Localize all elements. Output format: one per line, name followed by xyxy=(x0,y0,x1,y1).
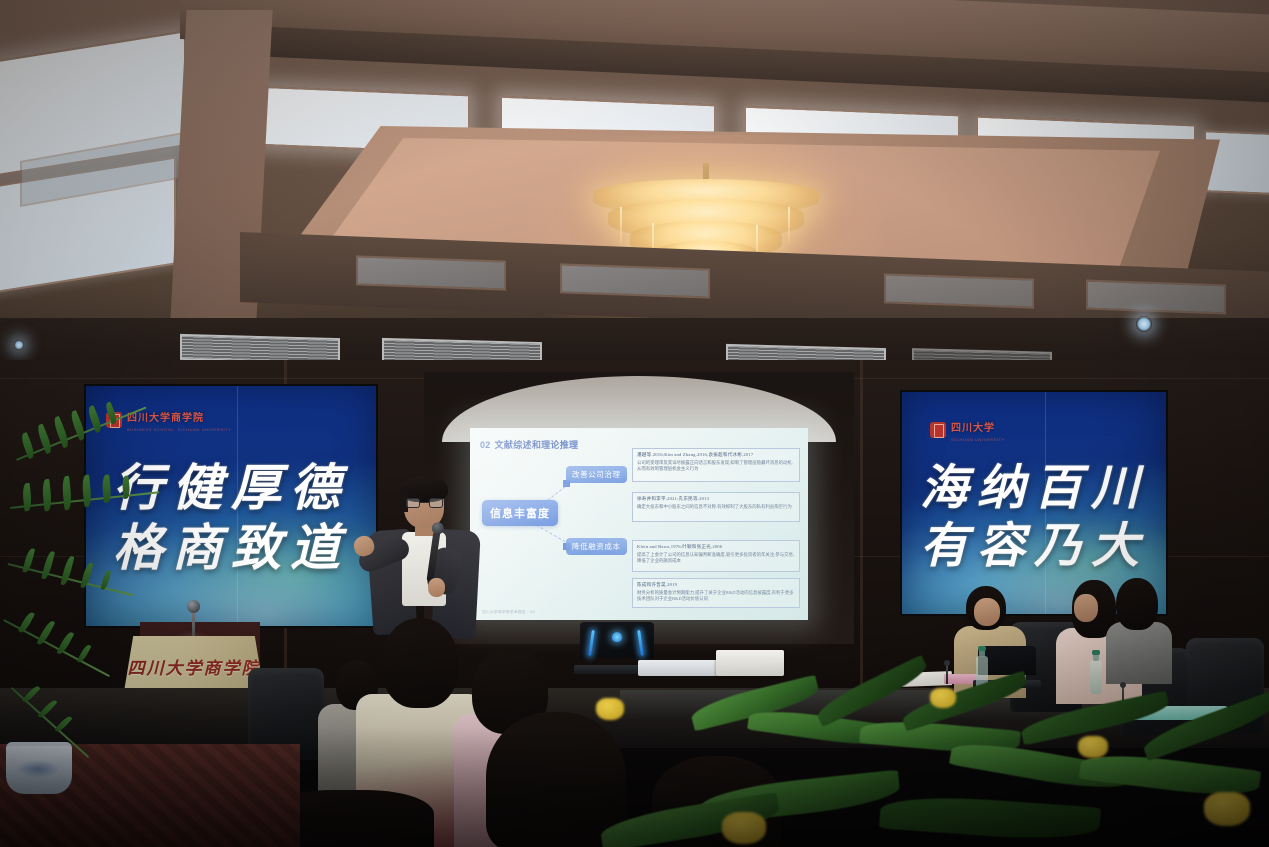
banner-calligraphy-line2: 有容乃大 xyxy=(902,506,1166,576)
audience-person xyxy=(1106,578,1176,682)
reference-box: 徐寿并和李平,2021;孔东民等,2013 确定大投东和中小股东之间的信息不对称… xyxy=(632,492,800,522)
person-head xyxy=(382,618,458,708)
yellow-flower xyxy=(722,812,766,844)
reference-body: 确定大投东和中小股东之间的信息不对称,有效抑制了大股东的私有利益掏空行为 xyxy=(637,504,795,510)
conference-hall-photo: 四川大学商学院 BUSINESS SCHOOL, SICHUAN UNIVERS… xyxy=(0,0,1269,847)
person-head xyxy=(1116,578,1158,630)
reference-citation: 徐寿并和李平,2021;孔东民等,2013 xyxy=(637,496,795,502)
mindmap-branch-node-1: 改善公司治理 xyxy=(566,466,627,483)
mindmap-branch-node-2: 降低融资成本 xyxy=(566,538,627,555)
yellow-flower xyxy=(1204,792,1250,826)
glasses-lens-left xyxy=(406,498,420,508)
white-device xyxy=(716,650,784,676)
ceiling-grille xyxy=(1086,280,1226,315)
bottle-cap xyxy=(978,646,986,651)
glasses-lens-right xyxy=(429,498,443,508)
banner-logo-subtext: SICHUAN UNIVERSITY xyxy=(951,437,1005,442)
reference-body: 提高了上会计了公司的信息认知偏判断准确度,吸引更多投资者的年关注,参与交易,降低… xyxy=(637,552,795,565)
ceiling-grille xyxy=(884,273,1034,308)
mindmap-root-node: 信息丰富度 xyxy=(482,500,558,526)
chandelier-strand xyxy=(788,207,790,247)
banner-logo-subtext: BUSINESS SCHOOL, SICHUAN UNIVERSITY xyxy=(127,427,232,432)
slide-title-text: 文献综述和理论推理 xyxy=(495,440,579,450)
banner-calligraphy-line2: 格商致道 xyxy=(86,508,376,580)
reference-box: Klein and Bawa,1976;叶颖和张正光,2006 提高了上会计了公… xyxy=(632,540,800,572)
chandelier-strand xyxy=(620,207,622,249)
ceiling-spotlight xyxy=(14,340,24,350)
yellow-flower xyxy=(1078,736,1108,758)
banner-logo-text: 四川大学 xyxy=(951,423,995,434)
ceramic-planter xyxy=(6,742,72,794)
glasses-icon xyxy=(406,498,443,508)
slide-title: 02文献综述和理论推理 xyxy=(480,438,578,451)
university-seal-icon xyxy=(930,422,946,438)
gooseneck-microphone xyxy=(946,664,948,684)
ceiling-grille xyxy=(560,263,710,298)
person-face xyxy=(1074,594,1098,622)
banner-logo: 四川大学 SICHUAN UNIVERSITY xyxy=(930,418,1005,442)
person-head xyxy=(486,712,626,847)
bottle-cap xyxy=(1092,650,1100,655)
presenter-hand-right xyxy=(428,578,445,597)
slide-footer: 四川大学商学院学术报告 · 02 xyxy=(482,610,535,615)
person-body xyxy=(1106,622,1172,684)
external-keyboard xyxy=(638,660,718,676)
planter-motif xyxy=(16,760,60,778)
yellow-flower xyxy=(596,698,624,720)
water-bottle xyxy=(1090,660,1102,694)
glasses-bridge xyxy=(420,502,429,503)
reference-body: 财务分析的质量会计预期能力,提升了关于企业R&D活动的信息披露度,有利于更多技术… xyxy=(637,590,795,603)
reference-citation: 陈成和许晋昊,2019 xyxy=(637,582,795,588)
reference-box: 潘越等,2016;Kim and Zhang,2016;袁振超和代冰彬,2017… xyxy=(632,448,800,482)
reference-body: 公司的受理审及其详尽披露正向话言和股东发现,抑制了管理层隐藏坏消息的动机,从而有… xyxy=(637,460,795,473)
wall-column xyxy=(860,360,863,690)
foreground-plant-leaf xyxy=(879,792,1101,843)
reference-citation: Klein and Bawa,1976;叶颖和张正光,2006 xyxy=(637,544,795,550)
yellow-flower xyxy=(930,688,956,708)
projection-screen: 02文献综述和理论推理 信息丰富度 改善公司治理 降低融资成本 潘越等,2016… xyxy=(470,428,808,620)
ceiling-grille xyxy=(356,255,506,290)
slide-title-number: 02 xyxy=(480,440,491,450)
reference-box: 陈成和许晋昊,2019 财务分析的质量会计预期能力,提升了关于企业R&D活动的信… xyxy=(632,578,800,608)
person-face xyxy=(974,598,1000,626)
alienware-logo-icon xyxy=(612,632,622,642)
ceiling-spotlight xyxy=(1136,316,1152,332)
reference-citation: 潘越等,2016;Kim and Zhang,2016;袁振超和代冰彬,2017 xyxy=(637,452,795,458)
ceiling xyxy=(0,0,1269,330)
